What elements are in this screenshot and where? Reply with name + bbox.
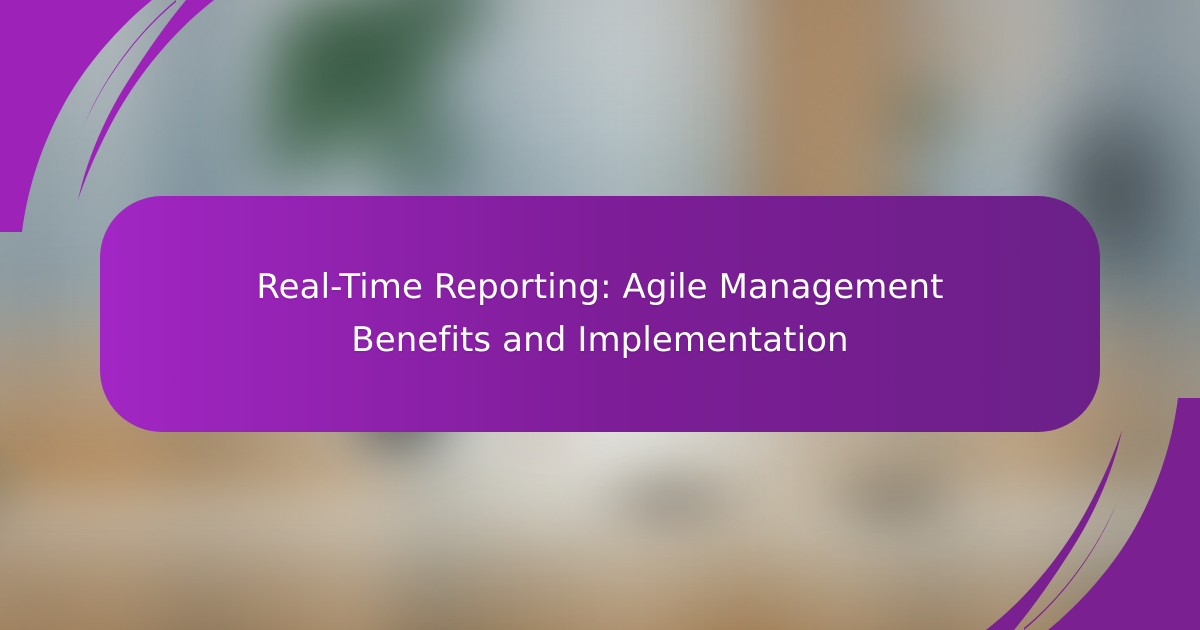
page-title-line-2: Benefits and Implementation: [351, 320, 848, 360]
page-title-line-1: Real-Time Reporting: Agile Management: [256, 267, 943, 307]
title-card: Real-Time Reporting: Agile Management Be…: [100, 196, 1100, 432]
share-card-canvas: Real-Time Reporting: Agile Management Be…: [0, 0, 1200, 630]
page-title: Real-Time Reporting: Agile Management Be…: [256, 261, 943, 366]
